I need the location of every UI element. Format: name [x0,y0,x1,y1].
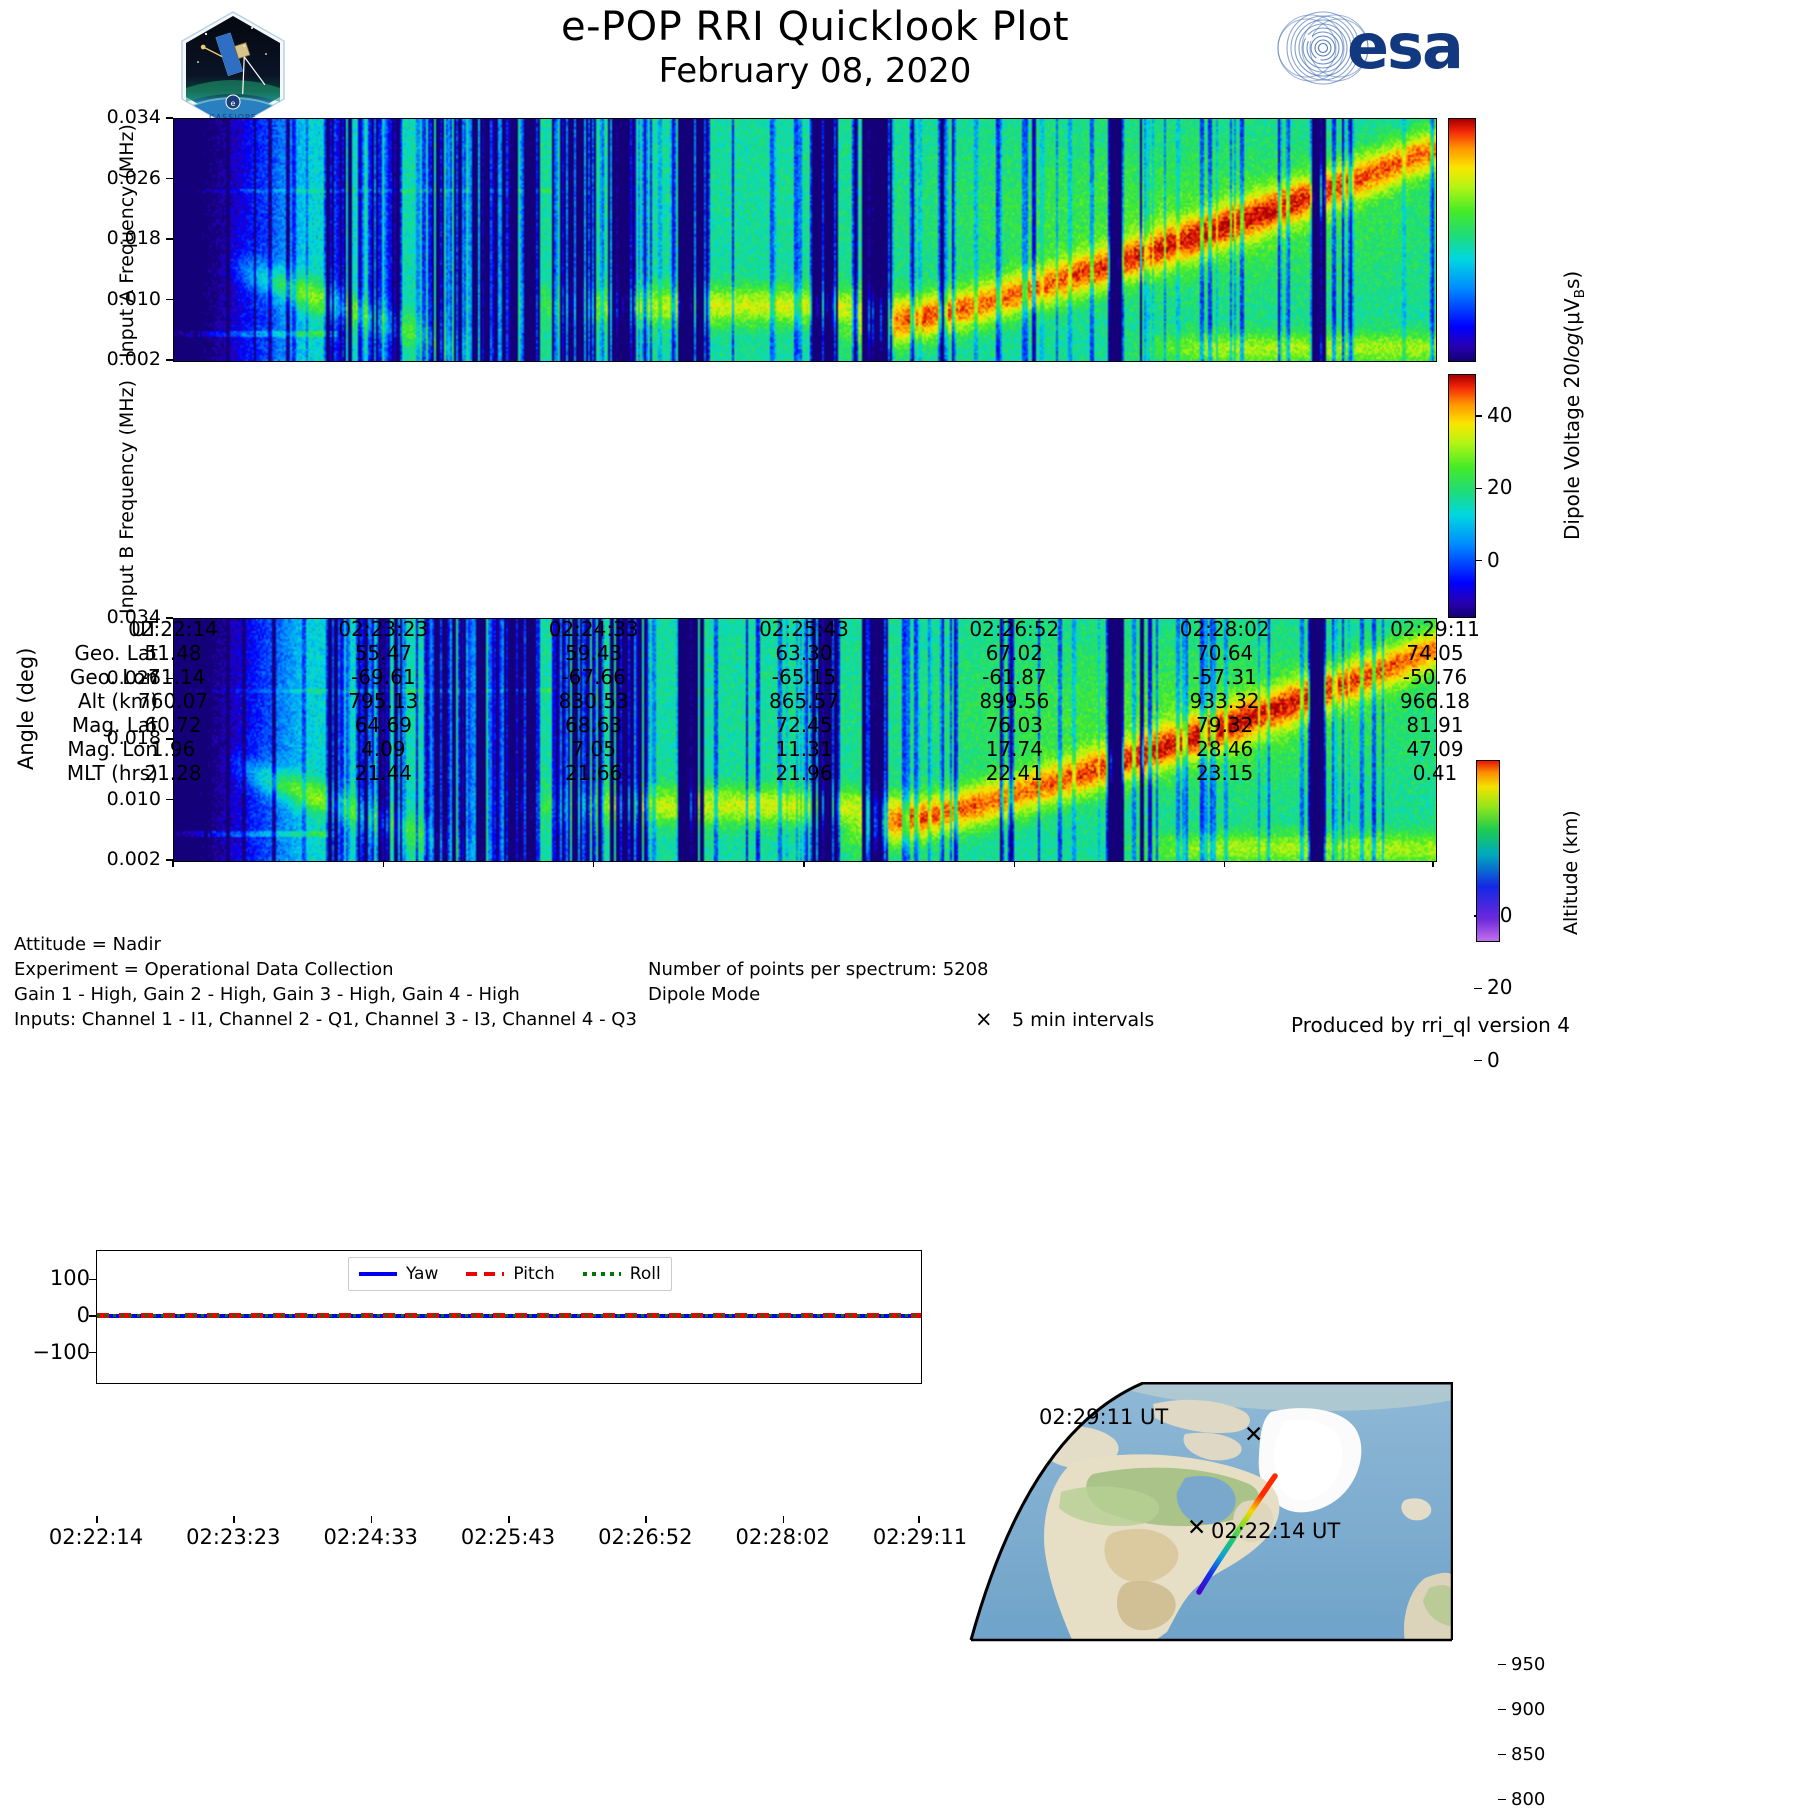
ephemeris-cell: 47.09 [1345,740,1525,759]
ephemeris-cell: 21.66 [504,764,684,783]
y-tick-label: 0.002 [69,348,161,370]
ephemeris-cell: 11.31 [714,740,894,759]
altitude-tick-mark [1498,1709,1506,1711]
ephemeris-cell: 795.13 [293,692,473,711]
map-svg [953,1382,1453,1642]
footer-produced-by: Produced by rri_ql version 4 [1291,1013,1570,1037]
esa-logo-text: esa [1347,16,1462,78]
ephemeris-cell: 64.69 [293,716,473,735]
ephemeris-cell: -57.31 [1135,668,1315,687]
ephemeris-cell: 68.63 [504,716,684,735]
colorbar-tick-mark [1474,1060,1482,1062]
attitude-y-tick-mark [89,1279,96,1281]
footer-inputs: Inputs: Channel 1 - I1, Channel 2 - Q1, … [14,1009,637,1030]
attitude-x-tick-label: 02:26:52 [570,1525,720,1549]
altitude-tick-mark [1498,1799,1506,1801]
altitude-colorbar [1476,760,1500,942]
ephemeris-cell: 28.46 [1135,740,1315,759]
ephemeris-table: UT02:22:1402:23:2302:24:3302:25:4302:26:… [0,620,1800,788]
y-tick-label: 0.010 [69,788,161,810]
y-tick-mark [166,178,173,180]
map-start-time-label: 02:22:14 UT [1211,1519,1340,1543]
page-title: e-POP RRI Quicklook Plot February 08, 20… [430,4,1200,92]
ephemeris-cell: 4.09 [293,740,473,759]
ephemeris-cell: 76.03 [924,716,1104,735]
colorbar-b [1448,374,1476,618]
y-tick-label: 0.002 [69,848,161,870]
legend-label-yaw: Yaw [406,1264,438,1284]
altitude-tick-label: 850 [1511,1744,1545,1765]
footer-experiment: Experiment = Operational Data Collection [14,959,394,980]
altitude-tick-mark [1498,1754,1506,1756]
attitude-x-tick-mark [783,1516,785,1523]
footer-points-per-spectrum: Number of points per spectrum: 5208 [648,959,989,980]
ephemeris-cell: 899.56 [924,692,1104,711]
title-line-2: February 08, 2020 [430,50,1200,92]
attitude-legend[interactable]: Yaw Pitch Roll [348,1257,672,1291]
footer-dipole-mode: Dipole Mode [648,984,760,1005]
ephemeris-cell: -61.87 [924,668,1104,687]
colorbar-label: Dipole Voltage 20log(μVBs) [1560,271,1588,540]
attitude-x-tick-mark [918,1516,920,1523]
attitude-x-tick-label: 02:22:14 [21,1525,171,1549]
ephemeris-cell: 70.64 [1135,644,1315,663]
ephemeris-cell: -67.66 [504,668,684,687]
ephemeris-cell: 21.44 [293,764,473,783]
attitude-x-tick-mark [508,1516,510,1523]
ephemeris-cell: 02:28:02 [1135,620,1315,639]
y-tick-mark [166,359,173,361]
colorbar-tick-label: 20 [1487,975,1512,999]
y-tick-mark [166,238,173,240]
track-marker-end: ✕ [1244,1424,1263,1447]
attitude-x-tick-label: 02:24:33 [296,1525,446,1549]
attitude-x-tick-label: 02:25:43 [433,1525,583,1549]
ephemeris-cell: -71.14 [83,668,263,687]
y-tick-label: 0.010 [69,288,161,310]
panel-b-ylabel: Input B Frequency (MHz) [116,380,138,614]
cassiope-logo: e CASSIOPE [178,10,288,130]
y-tick-label: 0.034 [69,106,161,128]
attitude-x-tick-label: 02:28:02 [708,1525,858,1549]
ephemeris-cell: -65.15 [714,668,894,687]
ephemeris-cell: 02:29:11 [1345,620,1525,639]
ephemeris-cell: 17.74 [924,740,1104,759]
legend-item-yaw: Yaw [359,1264,438,1284]
ephemeris-cell: 51.48 [83,644,263,663]
attitude-y-tick-mark [89,1352,96,1354]
altitude-colorbar-label: Altitude (km) [1560,810,1582,935]
attitude-plot: Yaw Pitch Roll [96,1250,922,1384]
legend-swatch-yaw [359,1272,397,1276]
legend-label-roll: Roll [630,1264,661,1284]
ephemeris-cell: 23.15 [1135,764,1315,783]
y-tick-label: 0.026 [69,167,161,189]
colorbar-b-canvas [1449,375,1475,617]
ephemeris-cell: 60.72 [83,716,263,735]
ephemeris-cell: 1.96 [83,740,263,759]
legend-swatch-pitch [466,1272,504,1276]
ephemeris-cell: 79.32 [1135,716,1315,735]
ground-track-map: ✕ ✕ 02:29:11 UT 02:22:14 UT [953,1382,1453,1642]
attitude-x-tick-mark [645,1516,647,1523]
attitude-y-tick-label: −100 [20,1340,90,1364]
attitude-x-tick-mark [233,1516,235,1523]
y-tick-mark [166,799,173,801]
ephemeris-cell: 966.18 [1345,692,1525,711]
ephemeris-cell: 21.96 [714,764,894,783]
ephemeris-cell: 67.02 [924,644,1104,663]
ephemeris-cell: 81.91 [1345,716,1525,735]
colorbar-tick-label: 40 [1487,403,1512,427]
ephemeris-cell: 830.53 [504,692,684,711]
attitude-x-tick-label: 02:23:23 [158,1525,308,1549]
interval-note: 5 min intervals [1012,1009,1154,1031]
colorbar-a [1448,118,1476,362]
attitude-x-tick-mark [371,1516,373,1523]
esa-logo: esa [1275,8,1485,88]
colorbar-label-text: Dipole Voltage 20log(μVBs) [1560,271,1584,540]
legend-item-roll: Roll [583,1264,661,1284]
ephemeris-cell: 02:25:43 [714,620,894,639]
map-end-time-label: 02:29:11 UT [1039,1405,1168,1429]
ephemeris-cell: 933.32 [1135,692,1315,711]
altitude-tick-label: 800 [1511,1789,1545,1810]
ephemeris-cell: -69.61 [293,668,473,687]
attitude-trace-roll [97,1314,921,1317]
colorbar-tick-label: 0 [1487,1048,1500,1072]
legend-swatch-roll [583,1272,621,1276]
colorbar-tick-label: 0 [1487,548,1500,572]
altitude-tick-label: 950 [1511,1654,1545,1675]
svg-text:e: e [231,99,236,108]
spectrogram-a-canvas [174,119,1436,361]
ephemeris-cell: 02:23:23 [293,620,473,639]
colorbar-tick-mark [1474,988,1482,990]
attitude-y-tick-mark [89,1315,96,1317]
altitude-tick-label: 900 [1511,1699,1545,1720]
ephemeris-cell: 7.05 [504,740,684,759]
ephemeris-cell: -50.76 [1345,668,1525,687]
ephemeris-cell: 02:24:33 [504,620,684,639]
colorbar-tick-label: 20 [1487,475,1512,499]
colorbar-a-canvas [1449,119,1475,361]
interval-marker-icon: × [975,1007,993,1031]
ephemeris-cell: 760.07 [83,692,263,711]
altitude-tick-mark [1498,1664,1506,1666]
attitude-y-tick-label: 0 [20,1303,90,1327]
ephemeris-cell: 59.43 [504,644,684,663]
ephemeris-cell: 865.57 [714,692,894,711]
spectrogram-input-a [173,118,1437,362]
ephemeris-cell: 72.45 [714,716,894,735]
footer-gain: Gain 1 - High, Gain 2 - High, Gain 3 - H… [14,984,520,1005]
legend-item-pitch: Pitch [466,1264,554,1284]
legend-label-pitch: Pitch [513,1264,554,1284]
title-line-1: e-POP RRI Quicklook Plot [430,4,1200,50]
y-tick-label: 0.018 [69,227,161,249]
altitude-colorbar-canvas [1477,761,1499,941]
y-tick-mark [166,299,173,301]
footer-attitude: Attitude = Nadir [14,934,161,955]
ephemeris-cell: 74.05 [1345,644,1525,663]
ephemeris-cell: 55.47 [293,644,473,663]
ephemeris-cell: 63.30 [714,644,894,663]
attitude-y-tick-label: 100 [20,1266,90,1290]
ephemeris-cell: 02:26:52 [924,620,1104,639]
ephemeris-cell: 21.28 [83,764,263,783]
attitude-ylabel: Angle (deg) [14,648,38,770]
ephemeris-cell: 22.41 [924,764,1104,783]
y-tick-mark [166,117,173,119]
ephemeris-cell: 02:22:14 [83,620,263,639]
attitude-x-tick-mark [96,1516,98,1523]
track-marker-start: ✕ [1187,1517,1206,1540]
